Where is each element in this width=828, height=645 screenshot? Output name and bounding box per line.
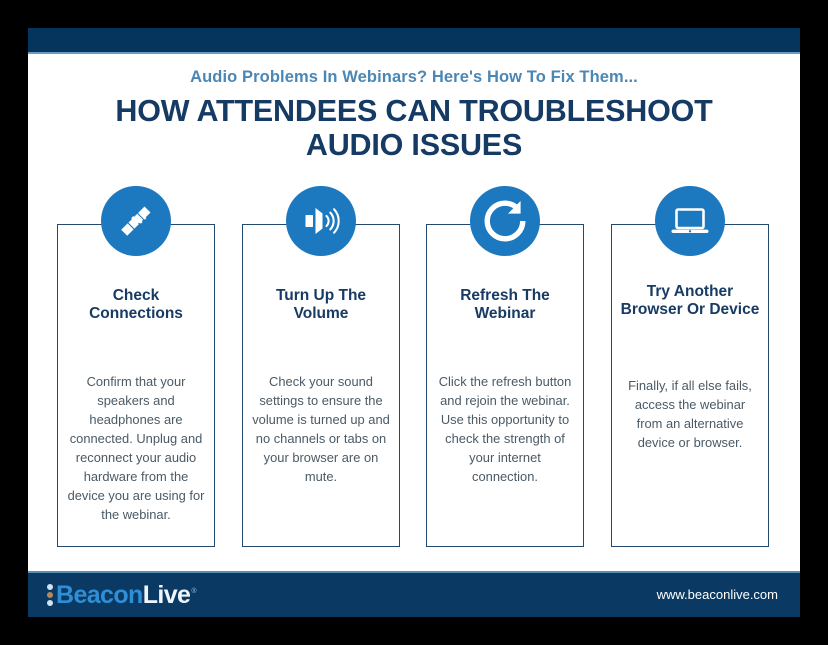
logo-registered-mark: ®: [191, 588, 196, 595]
plug-icon: [101, 186, 171, 256]
card-turn-up-the-volume: Turn Up The Volume Check your sound sett…: [242, 224, 400, 547]
logo-mark-icon: [45, 583, 54, 607]
slide-title-line1: HOW ATTENDEES CAN TROUBLESHOOT: [115, 94, 712, 128]
card-body: Check your sound settings to ensure the …: [252, 373, 390, 487]
top-accent-bar: [28, 28, 800, 52]
card-title: Refresh The Webinar: [433, 287, 577, 323]
card-title: Turn Up The Volume: [249, 287, 393, 323]
slide-title: HOW ATTENDEES CAN TROUBLESHOOT AUDIO ISS…: [28, 94, 800, 162]
slide-frame: Audio Problems In Webinars? Here's How T…: [0, 0, 828, 645]
card-body: Click the refresh button and rejoin the …: [436, 373, 574, 487]
laptop-icon: [655, 186, 725, 256]
card-title: Check Connections: [64, 287, 208, 323]
logo-text-beacon: Beacon: [56, 581, 143, 609]
card-body: Finally, if all else fails, access the w…: [621, 377, 759, 453]
top-accent-rule: [28, 52, 800, 54]
card-title: Try Another Browser Or Device: [618, 283, 762, 319]
card-refresh-the-webinar: Refresh The Webinar Click the refresh bu…: [426, 224, 584, 547]
logo-dot-top: [47, 584, 53, 590]
slide-canvas: Audio Problems In Webinars? Here's How T…: [28, 28, 800, 617]
cards-row: Check Connections Confirm that your spea…: [28, 224, 800, 584]
slide-title-line2: AUDIO ISSUES: [28, 128, 800, 162]
logo-dot-bottom: [47, 600, 53, 606]
footer-bar: BeaconLive® www.beaconlive.com: [28, 573, 800, 617]
logo-text-live: Live: [143, 581, 191, 609]
card-try-another-browser-or-device: Try Another Browser Or Device Finally, i…: [611, 224, 769, 547]
logo-dot-middle: [47, 592, 53, 598]
slide-subtitle: Audio Problems In Webinars? Here's How T…: [28, 68, 800, 87]
beaconlive-logo[interactable]: BeaconLive®: [45, 582, 196, 608]
logo-wordmark: BeaconLive®: [56, 583, 196, 608]
card-check-connections: Check Connections Confirm that your spea…: [57, 224, 215, 547]
speaker-volume-icon: [286, 186, 356, 256]
refresh-icon: [470, 186, 540, 256]
card-body: Confirm that your speakers and headphone…: [67, 373, 205, 525]
footer-website-url[interactable]: www.beaconlive.com: [657, 587, 778, 602]
